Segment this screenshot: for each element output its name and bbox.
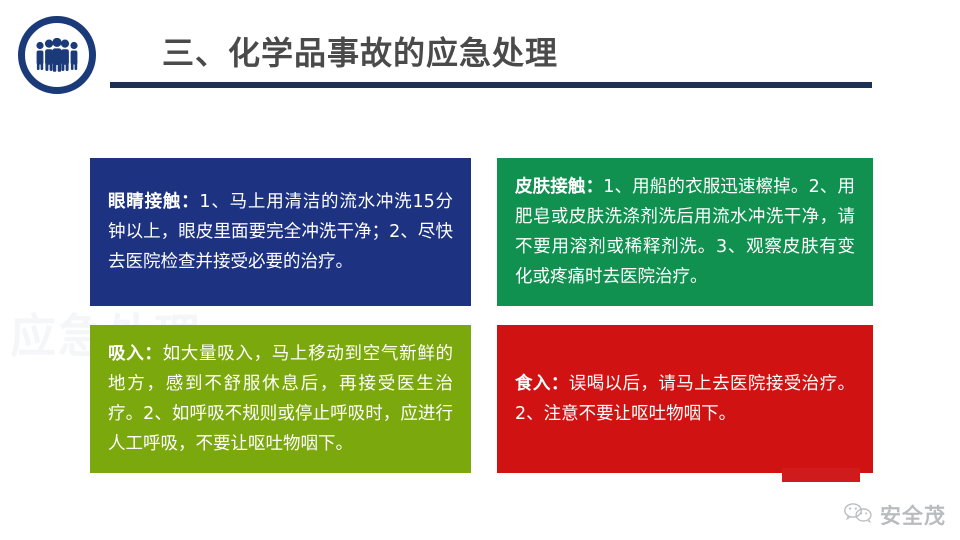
info-card-skin-contact: 皮肤接触：1、用船的衣服迅速檫掉。2、用肥皂或皮肤洗涤剂洗后用流水冲洗干净，请不… <box>497 158 873 306</box>
card-lead: 食入： <box>515 374 569 394</box>
corner-watermark: 安全茂 <box>843 500 946 530</box>
info-card-ingestion: 食入：误喝以后，请马上去医院接受治疗。2、注意不要让呕吐物咽下。 <box>497 325 873 473</box>
card-lead: 眼睛接触： <box>108 192 199 212</box>
group-of-people-icon <box>18 16 96 94</box>
card-lead: 吸入： <box>108 344 163 364</box>
info-card-eye-contact: 眼睛接触：1、马上用清洁的流水冲洗15分钟以上，眼皮里面要完全冲洗干净；2、尽快… <box>90 158 471 306</box>
header-divider <box>110 82 872 88</box>
watermark-text: 安全茂 <box>880 500 946 530</box>
card-lead: 皮肤接触： <box>515 177 603 197</box>
card-text: 眼睛接触：1、马上用清洁的流水冲洗15分钟以上，眼皮里面要完全冲洗干净；2、尽快… <box>108 187 453 277</box>
slide: 应急处理 <box>0 0 960 540</box>
page-title: 三、化学品事故的应急处理 <box>162 28 558 74</box>
slide-header: 三、化学品事故的应急处理 <box>0 0 960 115</box>
card-text: 皮肤接触：1、用船的衣服迅速檫掉。2、用肥皂或皮肤洗涤剂洗后用流水冲洗干净，请不… <box>515 172 855 292</box>
card-text: 吸入：如大量吸入，马上移动到空气新鲜的地方，感到不舒服休息后，再接受医生治疗。2… <box>108 339 453 459</box>
card-text: 食入：误喝以后，请马上去医院接受治疗。2、注意不要让呕吐物咽下。 <box>515 369 855 429</box>
info-card-inhalation: 吸入：如大量吸入，马上移动到空气新鲜的地方，感到不舒服休息后，再接受医生治疗。2… <box>90 325 471 473</box>
decorative-red-bar <box>782 468 860 482</box>
wechat-icon <box>843 502 873 529</box>
